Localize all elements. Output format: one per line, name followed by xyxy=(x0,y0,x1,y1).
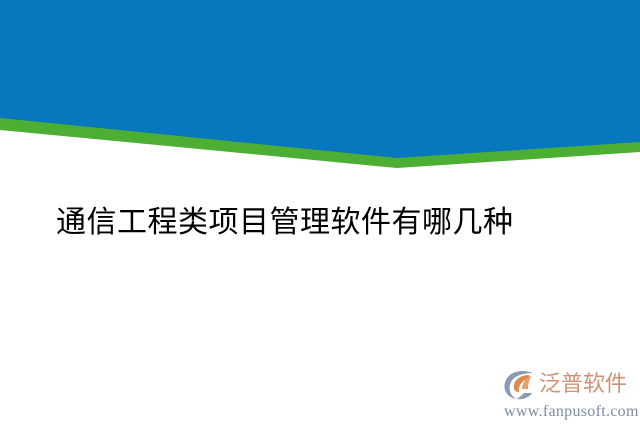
top-chevron-banner xyxy=(0,0,640,180)
brand-url: www.fanpusoft.com xyxy=(504,402,638,422)
page-title: 通信工程类项目管理软件有哪几种 xyxy=(56,203,514,243)
brand-name: 泛普软件 xyxy=(539,372,627,398)
banner-shape xyxy=(0,0,640,180)
fanpu-swoosh-logo-icon xyxy=(503,370,537,400)
brand-logo: 泛普软件 www.fanpusoft.com xyxy=(503,369,638,423)
brand-logo-row: 泛普软件 xyxy=(503,369,638,401)
slide-canvas: 通信工程类项目管理软件有哪几种 泛普软件 www.fanpusoft.com xyxy=(0,0,640,427)
